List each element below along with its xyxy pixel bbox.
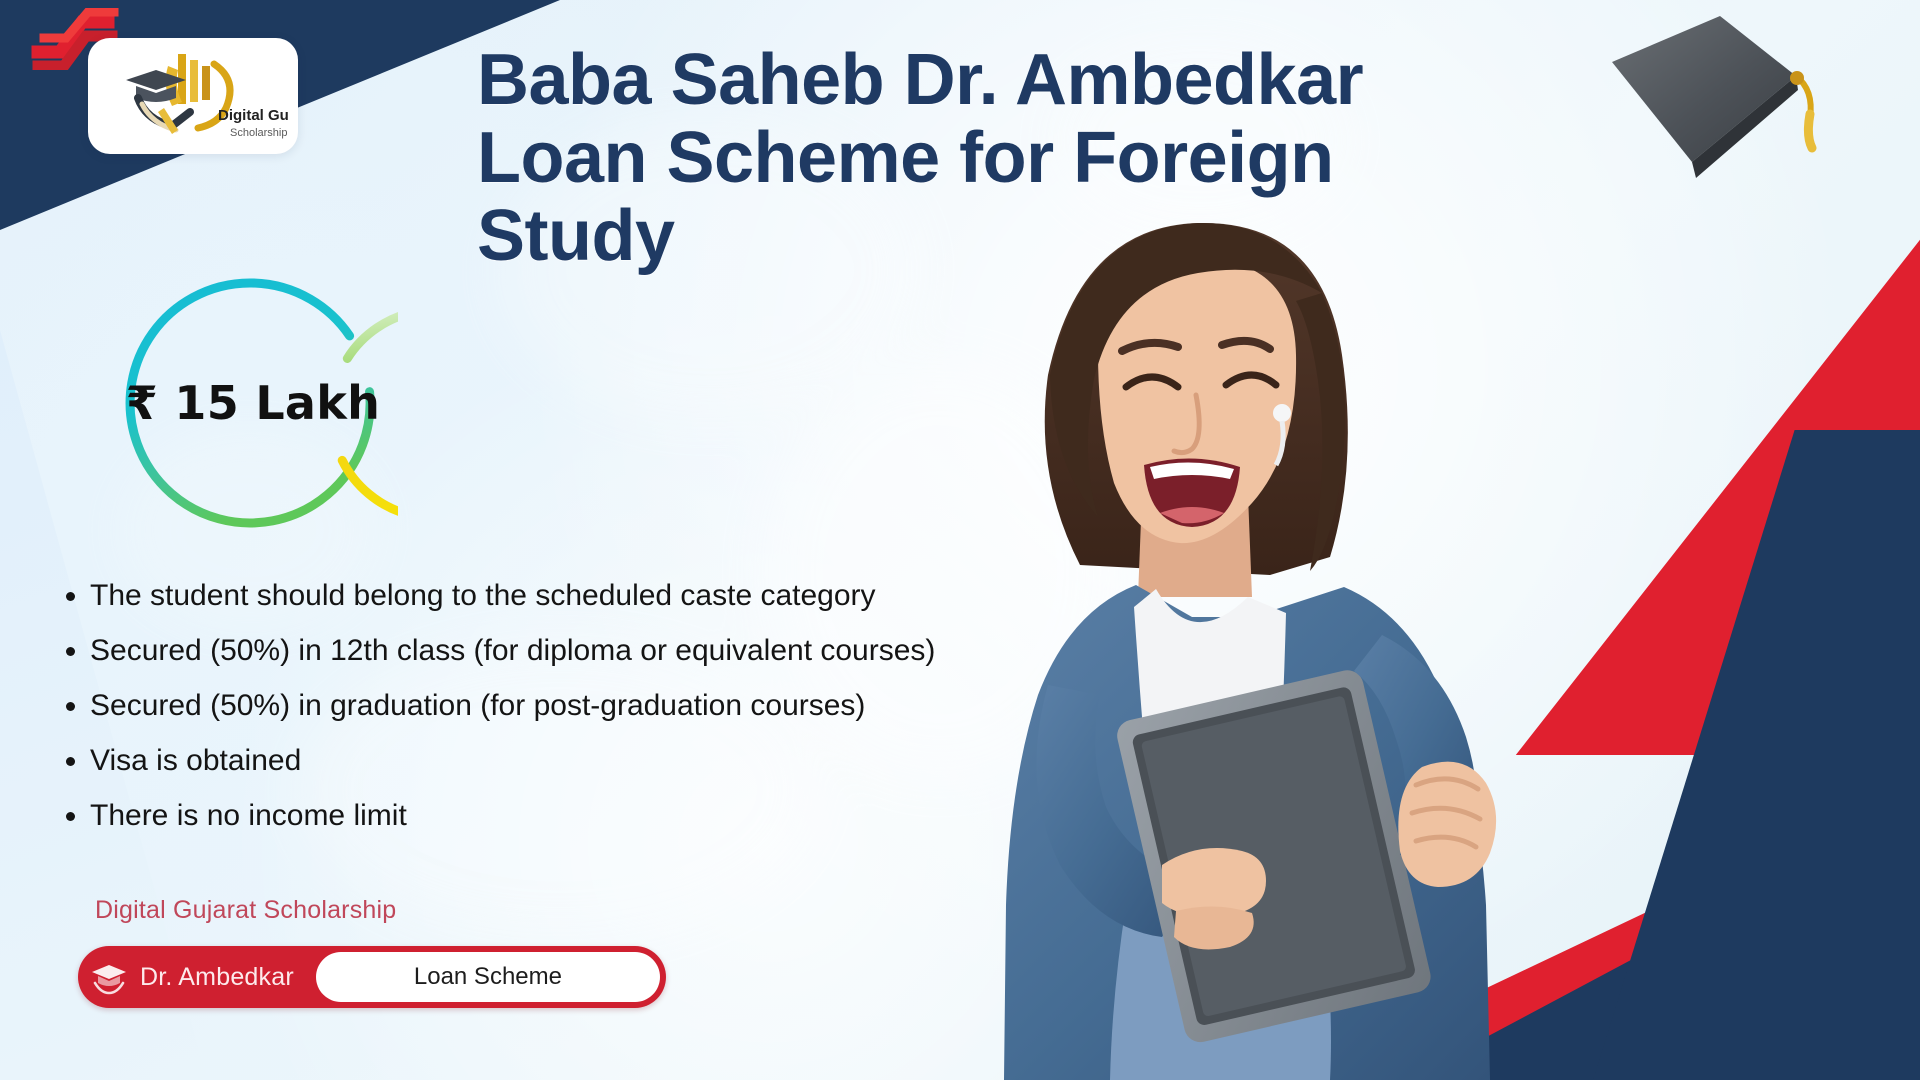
logo-subtitle: Scholarship [230,127,287,139]
pill-primary-label: Dr. Ambedkar [140,963,316,992]
graduation-cap-icon [78,959,140,995]
student-photo [930,165,1580,1080]
logo-title: Digital Gujarat [218,107,288,124]
list-item: Secured (50%) in 12th class (for diploma… [52,631,932,670]
list-item: Visa is obtained [52,741,932,780]
eligibility-list: The student should belong to the schedul… [52,576,932,851]
poster-canvas: Digital Gujarat Scholarship Baba Saheb D… [0,0,1920,1080]
scheme-pill[interactable]: Dr. Ambedkar Loan Scheme [78,946,666,1008]
amount-text: ₹ 15 Lakh [108,258,398,548]
list-item: There is no income limit [52,796,932,835]
amount-badge: ₹ 15 Lakh [108,258,398,548]
footer-brand-text: Digital Gujarat Scholarship [95,896,396,925]
list-item: Secured (50%) in graduation (for post-gr… [52,686,932,725]
list-item: The student should belong to the schedul… [52,576,932,615]
brand-logo-card: Digital Gujarat Scholarship [88,38,298,154]
title-line-1: Baba Saheb Dr. Ambedkar [477,42,1487,120]
pill-secondary-label: Loan Scheme [316,952,660,1002]
digital-gujarat-logo-icon: Digital Gujarat Scholarship [98,46,288,146]
graduation-cap-photo [1600,10,1840,210]
